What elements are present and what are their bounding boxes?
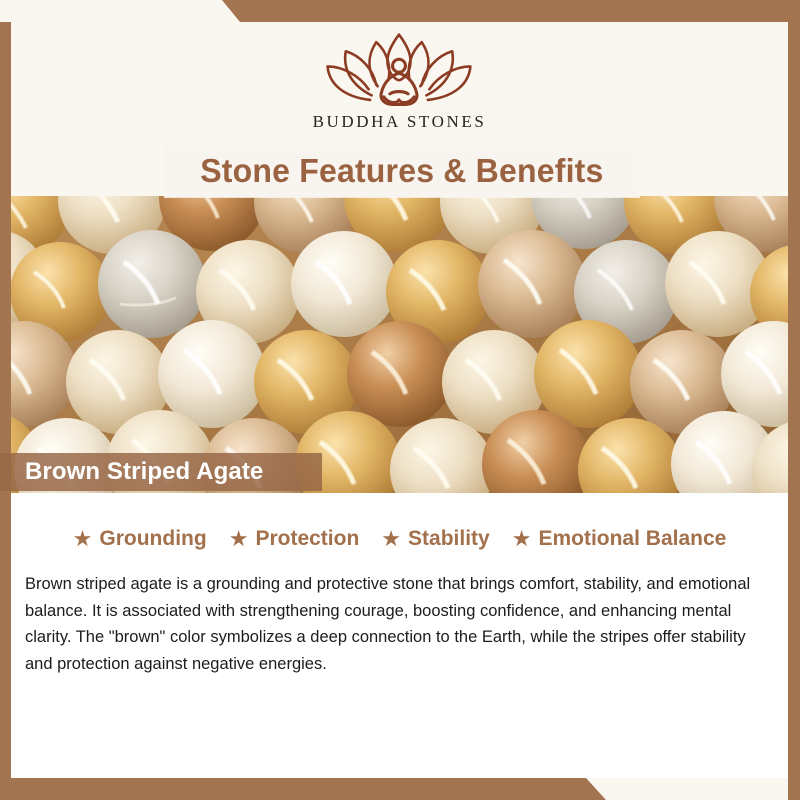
brand-logo: BUDDHA STONES <box>313 30 487 132</box>
benefit-label: Grounding <box>99 527 206 551</box>
lotus-meditation-figure-icon <box>323 30 475 108</box>
frame-top-right <box>0 0 800 22</box>
product-photo <box>0 196 800 493</box>
page-title: Stone Features & Benefits <box>200 152 603 190</box>
frame-bottom-left <box>0 778 800 800</box>
benefit-label: Stability <box>408 527 490 551</box>
title-banner: Stone Features & Benefits <box>165 145 639 197</box>
star-icon: ★ <box>73 528 93 550</box>
star-icon: ★ <box>512 528 532 550</box>
benefit-item-protection: ★ Protection <box>229 527 360 551</box>
benefit-item-grounding: ★ Grounding <box>73 527 207 551</box>
benefit-label: Protection <box>255 527 359 551</box>
stone-description: Brown striped agate is a grounding and p… <box>25 571 764 678</box>
benefit-item-emotional-balance: ★ Emotional Balance <box>512 527 727 551</box>
star-icon: ★ <box>229 528 249 550</box>
stone-name-label: Brown Striped Agate <box>25 458 263 486</box>
frame-right-edge <box>788 0 800 800</box>
benefits-list: ★ Grounding ★ Protection ★ Stability ★ E… <box>11 527 788 551</box>
brand-name: BUDDHA STONES <box>313 112 487 132</box>
content-panel: ★ Grounding ★ Protection ★ Stability ★ E… <box>11 493 788 778</box>
frame-left-edge <box>0 22 11 800</box>
stone-infographic: BUDDHA STONES Stone Features & Benefits … <box>0 0 800 800</box>
stone-name-banner: Brown Striped Agate <box>0 453 322 491</box>
star-icon: ★ <box>381 528 401 550</box>
benefit-label: Emotional Balance <box>538 527 726 551</box>
header: BUDDHA STONES <box>11 22 788 146</box>
benefit-item-stability: ★ Stability <box>381 527 489 551</box>
